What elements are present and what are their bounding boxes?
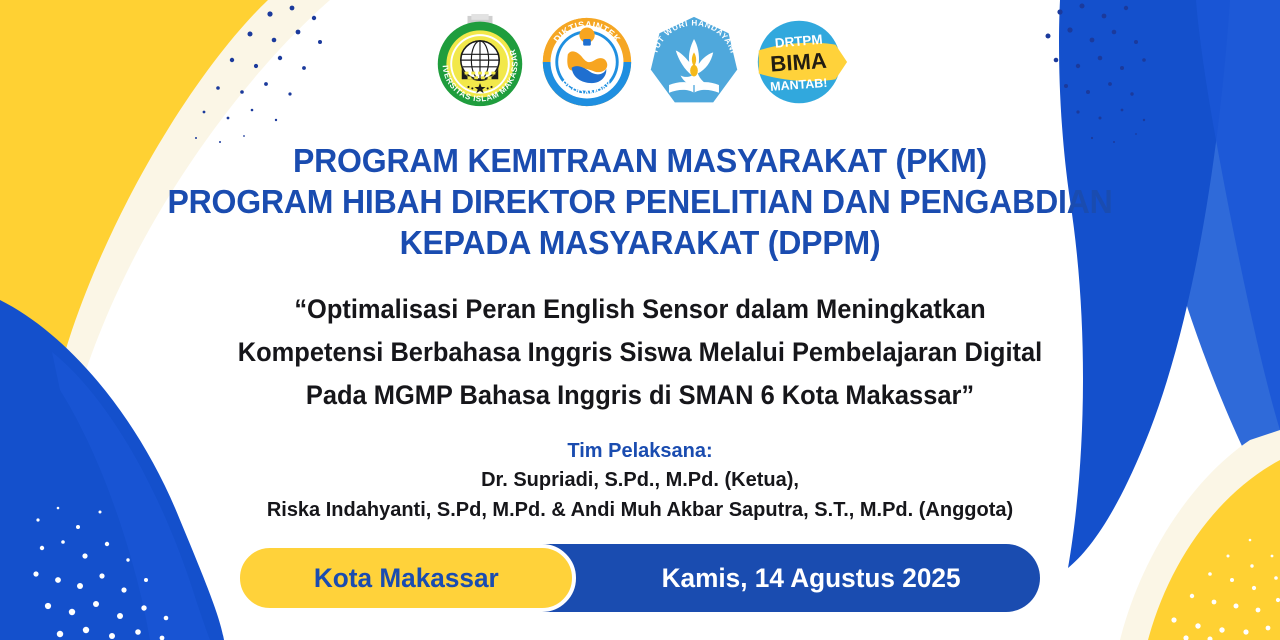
svg-text:BIMA: BIMA	[769, 48, 827, 77]
diktisaintek-berdampak-logo: DIKTISAINTEK BERDAMPAK	[539, 14, 635, 110]
universitas-islam-makassar-logo: UNIVERSITAS ISLAM MAKASSAR	[432, 14, 528, 110]
city-label: Kota Makassar	[314, 563, 499, 594]
team-member-leader: Dr. Supriadi, S.Pd., M.Pd. (Ketua),	[0, 465, 1280, 495]
team-heading: Tim Pelaksana:	[0, 438, 1280, 465]
tut-wuri-handayani-logo: TUT WURI HANDAYANI	[646, 14, 742, 110]
subtitle-line-1: “Optimalisasi Peran English Sensor dalam…	[26, 288, 1255, 331]
title-line-2: PROGRAM HIBAH DIREKTOR PENELITIAN DAN PE…	[19, 181, 1261, 222]
poster-canvas: UNIVERSITAS ISLAM MAKASSAR DIKTISAINTEK	[0, 0, 1280, 640]
subtitle-line-3: Pada MGMP Bahasa Inggris di SMAN 6 Kota …	[26, 374, 1255, 417]
title-line-3: KEPADA MASYARAKAT (DPPM)	[19, 222, 1261, 263]
logo-row: UNIVERSITAS ISLAM MAKASSAR DIKTISAINTEK	[0, 14, 1280, 110]
subtitle-line-2: Kompetensi Berbahasa Inggris Siswa Melal…	[26, 331, 1255, 374]
drtpm-bima-mantab-logo: DRTPM BIMA MANTAB!	[753, 14, 849, 110]
team-section: Tim Pelaksana: Dr. Supriadi, S.Pd., M.Pd…	[0, 438, 1280, 525]
footer-pills: Kamis, 14 Agustus 2025 Kota Makassar	[0, 544, 1280, 616]
date-label: Kamis, 14 Agustus 2025	[662, 563, 961, 594]
city-pill: Kota Makassar	[236, 544, 576, 612]
team-member-others: Riska Indahyanti, S.Pd, M.Pd. & Andi Muh…	[0, 495, 1280, 525]
program-title: PROGRAM KEMITRAAN MASYARAKAT (PKM) PROGR…	[0, 140, 1280, 263]
title-line-1: PROGRAM KEMITRAAN MASYARAKAT (PKM)	[19, 140, 1261, 181]
project-theme: “Optimalisasi Peran English Sensor dalam…	[0, 288, 1280, 417]
